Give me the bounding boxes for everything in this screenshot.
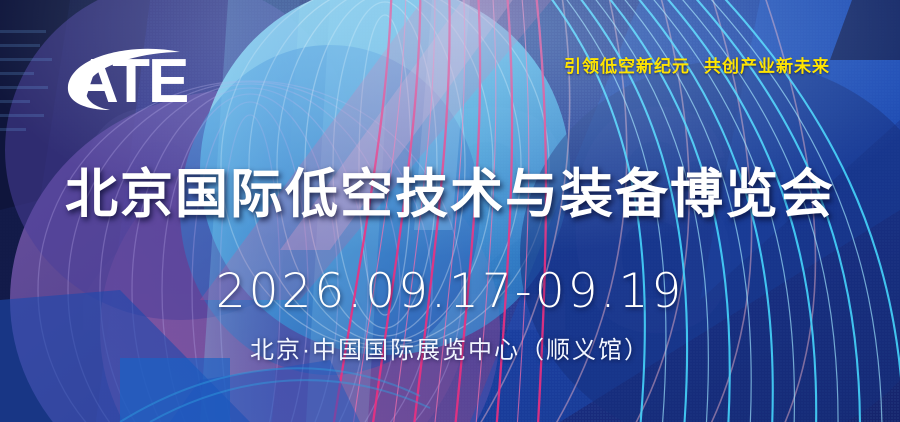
tagline-left: 引领低空新纪元 — [564, 57, 690, 76]
event-title: 北京国际低空技术与装备博览会 — [0, 166, 900, 224]
event-dates: 2026.09.17-09.19 — [0, 266, 900, 318]
event-venue: 北京·中国国际展览中心（顺义馆） — [0, 336, 900, 366]
exhibition-banner: 2026 — [0, 0, 900, 422]
tagline-right: 共创产业新未来 — [704, 57, 830, 76]
tagline: 引领低空新纪元共创产业新未来 — [0, 52, 830, 77]
